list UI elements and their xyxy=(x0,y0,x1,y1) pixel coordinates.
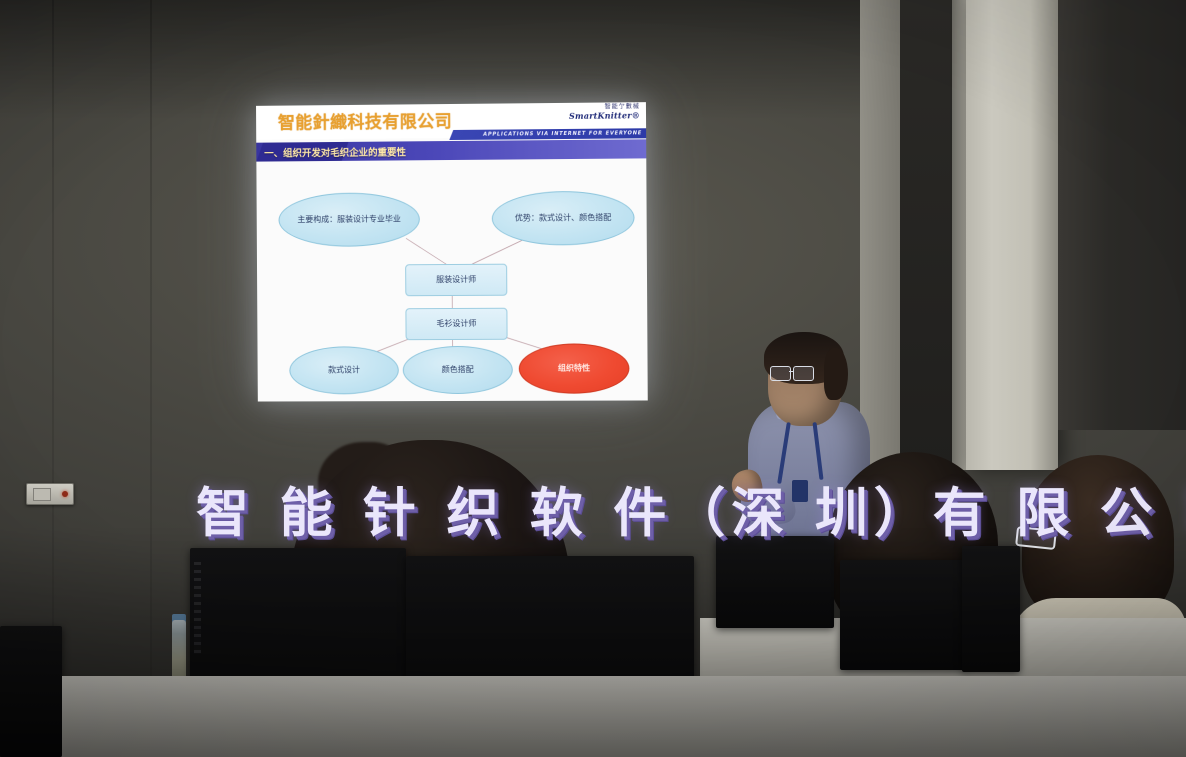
diagram-node-color-matching: 颜色搭配 xyxy=(403,346,513,394)
logo-smartknitter-text: SmartKnitter® xyxy=(569,111,640,120)
right-wall xyxy=(1058,0,1186,430)
node-label: 优势：款式设计、颜色搭配 xyxy=(515,213,612,222)
pillar xyxy=(966,0,1058,470)
node-label: 颜色搭配 xyxy=(442,366,474,375)
slide-diagram: 主要构成：服装设计专业毕业 优势：款式设计、颜色搭配 服装设计师 毛衫设计师 款… xyxy=(256,158,647,401)
company-logo: 智能亇數械 SmartKnitter® xyxy=(569,104,640,120)
diagram-node-fashion-designer: 服装设计师 xyxy=(405,264,507,297)
diagram-node-style-design: 款式设计 xyxy=(289,346,399,394)
node-label: 主要构成：服装设计专业毕业 xyxy=(297,215,401,224)
node-label: 组织特性 xyxy=(558,364,590,373)
diagram-node-sweater-designer: 毛衫设计师 xyxy=(405,308,507,340)
presentation-room-photo: 智能針織科技有限公司 智能亇數械 SmartKnitter® APPLICATI… xyxy=(0,0,1186,757)
section-heading: 一、组织开发对毛织企业的重要性 xyxy=(264,141,406,161)
presenter-glasses-icon xyxy=(770,366,814,379)
node-label: 款式设计 xyxy=(328,366,360,375)
wall-switch-plate xyxy=(26,483,74,505)
projected-slide: 智能針織科技有限公司 智能亇數械 SmartKnitter® APPLICATI… xyxy=(256,102,648,401)
node-label: 服装设计师 xyxy=(436,275,476,284)
floor-shadow xyxy=(0,527,1186,757)
presenter-badge xyxy=(792,480,808,502)
diagram-node-fabric-structure: 组织特性 xyxy=(519,343,630,394)
slide-tagline: APPLICATIONS VIA INTERNET FOR EVERYONE xyxy=(483,128,642,139)
switch-led-icon xyxy=(62,491,68,497)
presenter-hair-side xyxy=(824,348,848,400)
pillar-recess xyxy=(900,0,954,470)
switch-face xyxy=(33,488,51,501)
slide-title: 智能針織科技有限公司 xyxy=(278,107,452,134)
node-label: 毛衫设计师 xyxy=(436,319,476,328)
